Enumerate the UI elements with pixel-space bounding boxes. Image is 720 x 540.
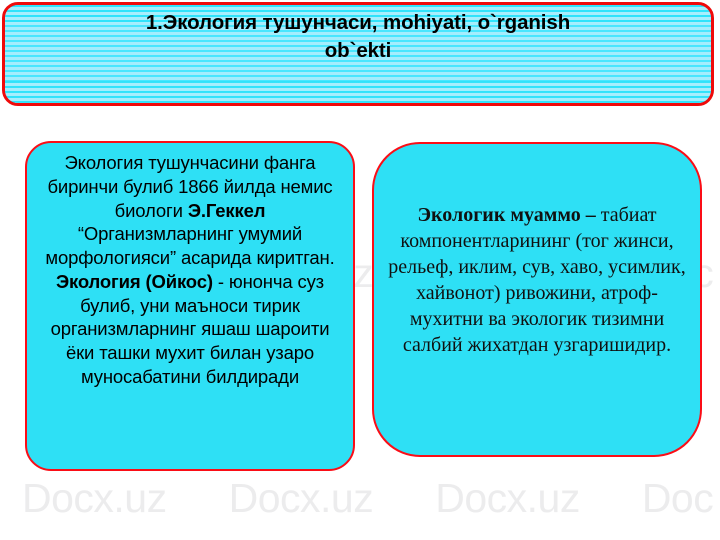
title-line-2: ob`ekti <box>325 39 392 62</box>
definition-card-right-text: Экологик муаммо – табиат компонентларини… <box>374 202 700 358</box>
watermark-text: Docx.uz <box>22 475 167 522</box>
page-title: 1.Экология тушунчаси, mohiyati, o`rganis… <box>5 5 711 64</box>
title-stripe-bottom <box>5 81 711 103</box>
watermark-row: Docx.uz Docx.uz Docx.uz Doc <box>0 475 720 522</box>
watermark-text-partial: Doc <box>642 475 713 522</box>
definition-card-left: Экология тушунчасини фанга биринчи булиб… <box>25 141 355 471</box>
watermark-text: Docx.uz <box>229 475 374 522</box>
slide-title-banner: 1.Экология тушунчаси, mohiyati, o`rganis… <box>2 2 714 106</box>
definition-card-right: Экологик муаммо – табиат компонентларини… <box>372 142 702 457</box>
title-line-1: 1.Экология тушунчаси, mohiyati, o`rganis… <box>146 11 570 34</box>
definition-card-left-text: Экология тушунчасини фанга биринчи булиб… <box>27 151 353 389</box>
watermark-text: Docx.uz <box>435 475 580 522</box>
